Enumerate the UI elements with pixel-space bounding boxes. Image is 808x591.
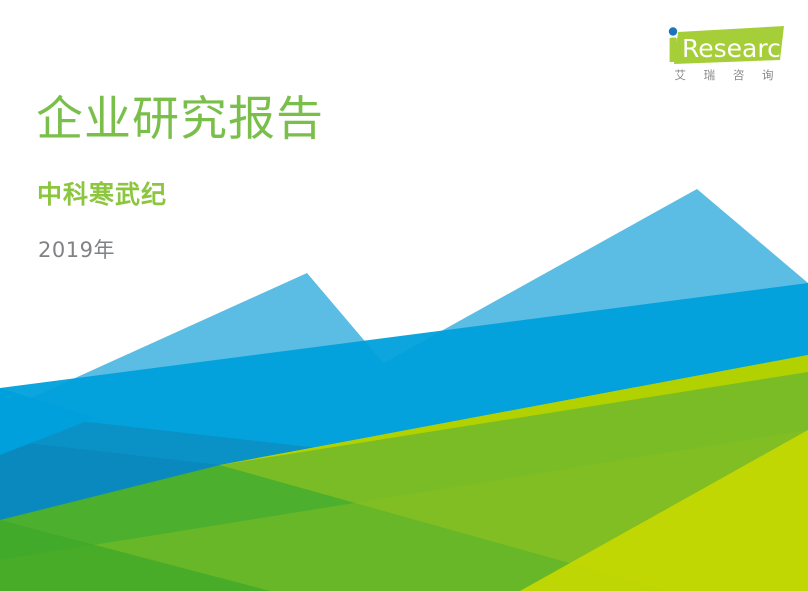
shape-blue-corner-top-left [0, 388, 95, 455]
shape-yellow-green-field [160, 355, 808, 591]
shape-lime-green-wedge [220, 355, 808, 591]
logo-wordmark-i: i [669, 34, 678, 65]
decorative-graphic [0, 0, 808, 591]
iresearch-logo-chinese-name: 艾 瑞 咨 询 [664, 69, 784, 83]
shape-bright-blue-upper-left [0, 283, 808, 591]
iresearch-logo-mark: i Research [664, 24, 784, 66]
shape-dark-blue-sliver [0, 440, 220, 560]
shape-olive-green-overlay [0, 430, 808, 591]
shape-sky-blue-left-peak [0, 273, 470, 465]
shape-leaf-green-overlay [220, 372, 808, 591]
shape-deep-blue-wedge [0, 412, 470, 591]
iresearch-logo[interactable]: i Research 艾 瑞 咨 询 [664, 24, 784, 83]
page-subtitle: 中科寒武纪 [37, 180, 167, 210]
shape-sky-blue-right-peak [200, 189, 808, 465]
logo-wordmark-research: Research [682, 34, 784, 63]
shape-bright-yellow-green-accent [520, 430, 808, 591]
page-year: 2019年 [38, 238, 115, 263]
shape-deep-green-accent [0, 520, 270, 591]
shape-grass-green-front [0, 465, 670, 591]
page-title: 企业研究报告 [36, 92, 324, 147]
report-cover-page: 企业研究报告 中科寒武纪 2019年 i Research 艾 瑞 咨 询 [0, 0, 808, 591]
